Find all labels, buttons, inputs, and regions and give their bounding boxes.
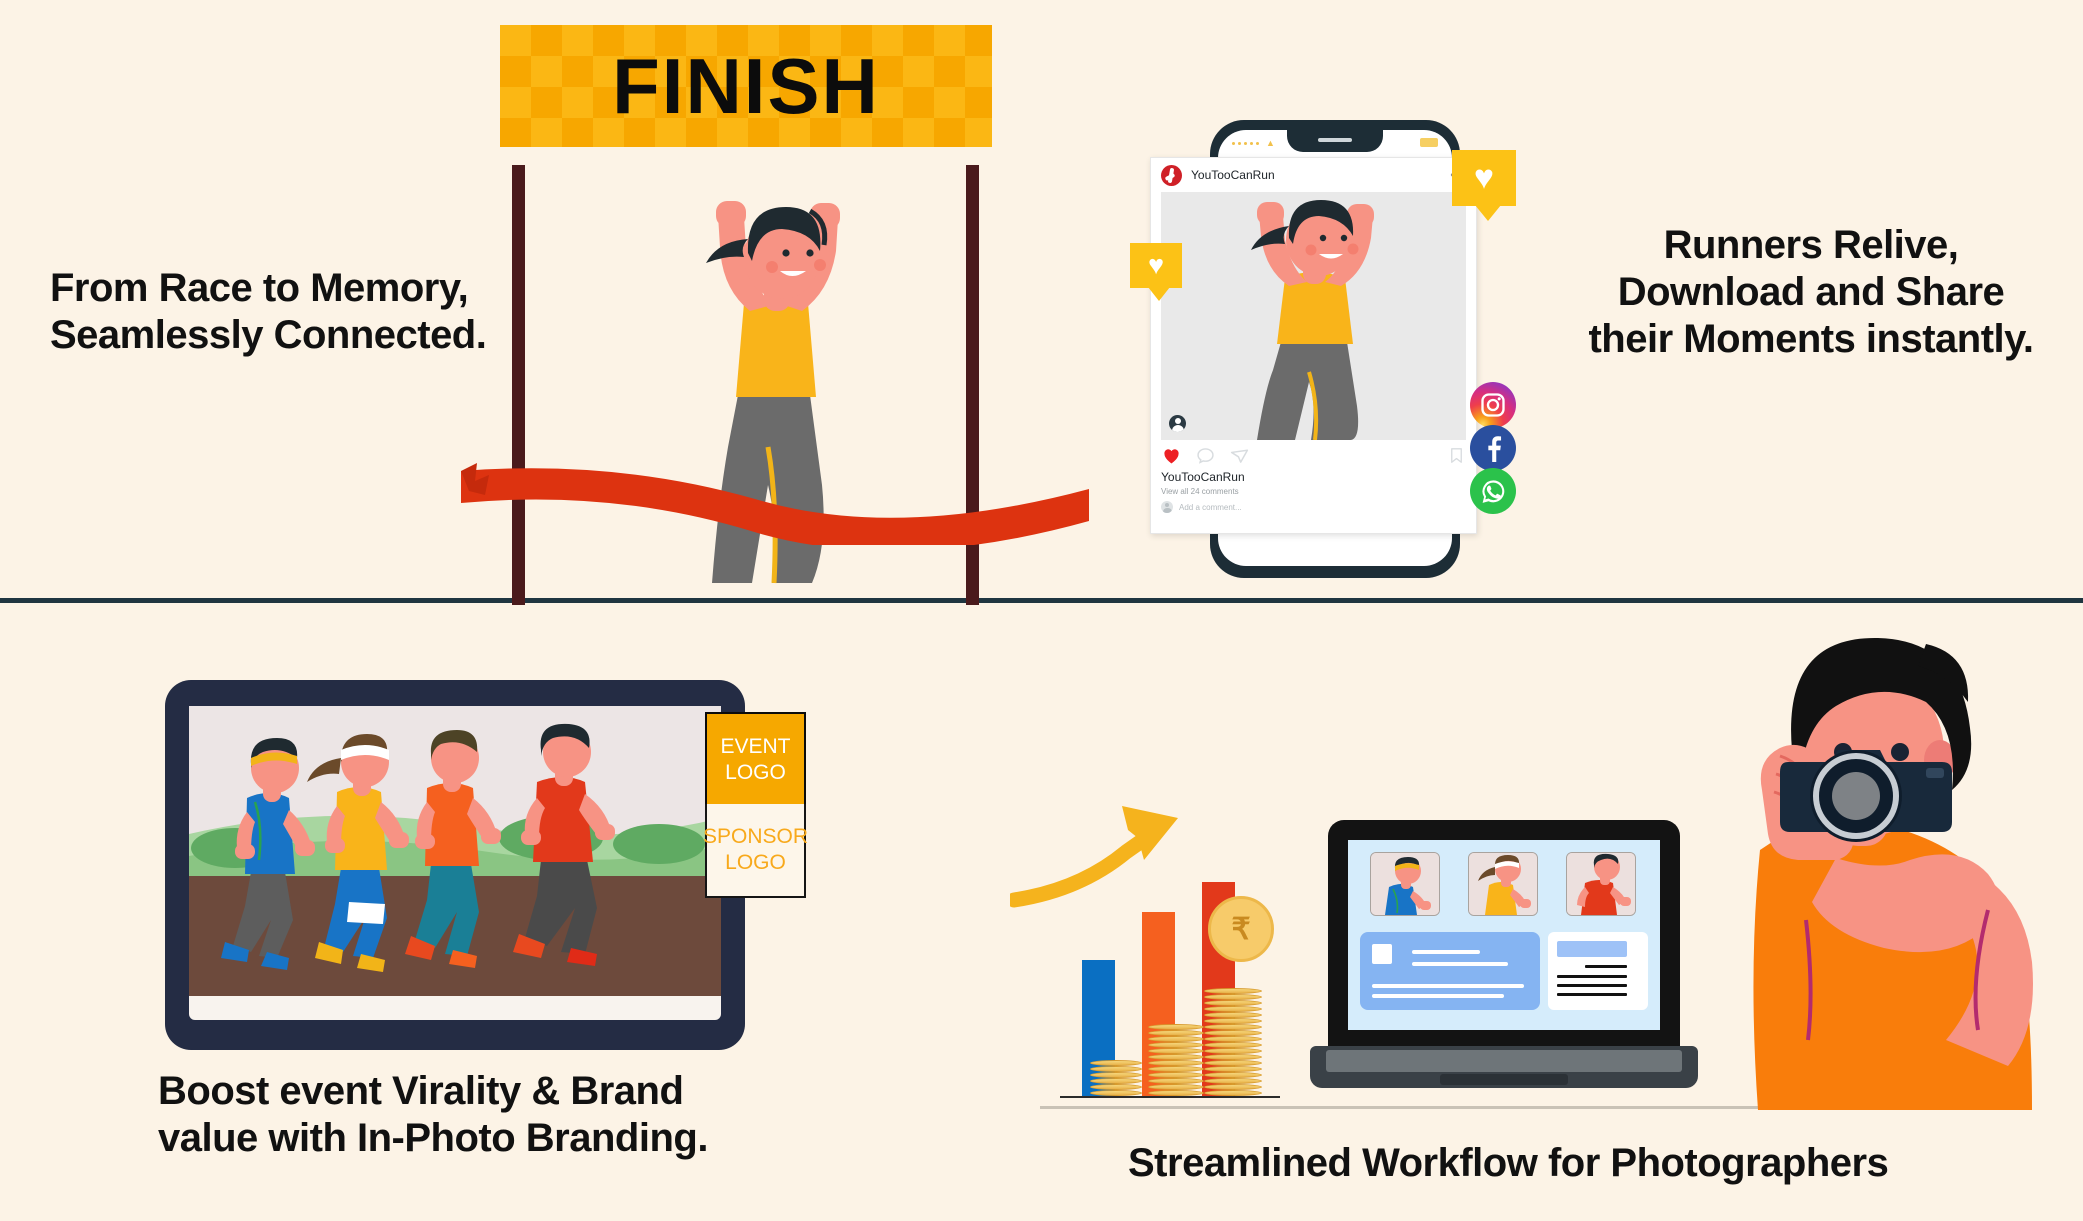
add-comment-input[interactable]: Add a comment... <box>1179 503 1242 512</box>
finish-banner: FINISH <box>500 25 992 147</box>
post-view-comments-link[interactable]: View all 24 comments <box>1161 487 1466 496</box>
panel-line <box>1372 984 1524 988</box>
whatsapp-icon[interactable] <box>1470 468 1516 514</box>
coin-stack-0 <box>1090 1056 1142 1096</box>
finish-ribbon <box>455 425 1095 545</box>
content-panel-white <box>1548 932 1648 1010</box>
panel-line <box>1412 962 1508 966</box>
headline-top-right-line3: their Moments instantly. <box>1556 316 2066 363</box>
headline-bottom-left-line2: value with In-Photo Branding. <box>158 1115 708 1162</box>
panel-line <box>1372 994 1504 998</box>
post-caption-username[interactable]: YouTooCanRun <box>1161 470 1466 484</box>
headline-top-right: Runners Relive, Download and Share their… <box>1556 222 2066 364</box>
coin-stack-2 <box>1204 980 1262 1096</box>
logo-overlay-stack: EVENT LOGO SPONSOR LOGO <box>705 712 802 902</box>
coin-stack-1 <box>1148 1020 1204 1096</box>
tagged-user-avatar-icon[interactable] <box>1169 415 1186 432</box>
laptop-touchpad[interactable] <box>1440 1074 1568 1085</box>
photo-thumbnail-2[interactable] <box>1566 852 1636 916</box>
post-photo <box>1161 192 1466 440</box>
headline-top-left-line2: Seamlessly Connected. <box>50 312 486 359</box>
tv-screen <box>189 706 721 996</box>
add-comment-row[interactable]: Add a comment... <box>1161 501 1466 513</box>
like-heart-icon[interactable] <box>1161 445 1182 466</box>
instagram-icon[interactable] <box>1470 382 1516 428</box>
laptop-lid <box>1328 820 1680 1050</box>
headline-top-right-line2: Download and Share <box>1556 269 2066 316</box>
finish-banner-label: FINISH <box>612 41 880 132</box>
revenue-bar-chart: ₹ <box>1060 830 1280 1110</box>
headline-top-left-line1: From Race to Memory, <box>50 265 486 312</box>
post-header: YouTooCanRun ••• <box>1151 158 1476 192</box>
photographer-illustration <box>1640 610 2060 1110</box>
infographic-canvas: FINISH From Race to Memory, <box>0 0 2083 1221</box>
current-user-avatar-icon <box>1161 501 1173 513</box>
runners-group-photo <box>189 706 721 996</box>
rupee-coin-icon: ₹ <box>1208 896 1274 962</box>
panel-line <box>1557 975 1627 978</box>
comment-bubble-icon[interactable] <box>1195 445 1216 466</box>
panel-line <box>1557 993 1627 996</box>
headline-bottom-left: Boost event Virality & Brand value with … <box>158 1068 708 1162</box>
phone-speaker-bar <box>1318 138 1352 142</box>
headline-bottom-right: Streamlined Workflow for Photographers <box>1128 1140 1888 1187</box>
rupee-symbol: ₹ <box>1231 912 1250 947</box>
battery-icon <box>1420 138 1438 147</box>
tv-frame <box>165 680 745 1050</box>
post-username[interactable]: YouTooCanRun <box>1191 168 1275 182</box>
tv-stand <box>189 996 721 1020</box>
brand-logo-avatar-icon[interactable] <box>1161 165 1182 186</box>
bookmark-icon[interactable] <box>1447 446 1466 465</box>
photo-thumbnail-1[interactable] <box>1468 852 1538 916</box>
panel-line <box>1557 984 1627 987</box>
celebrating-runner-photo <box>1161 192 1466 440</box>
content-panel-blue <box>1360 932 1540 1010</box>
panel-header-bar <box>1557 941 1627 957</box>
headline-top-left: From Race to Memory, Seamlessly Connecte… <box>50 265 486 359</box>
sponsor-logo-line1: SPONSOR <box>703 824 808 850</box>
sponsor-logo-line2: LOGO <box>725 850 786 876</box>
event-logo-line1: EVENT <box>720 734 790 760</box>
heart-icon: ♥ <box>1474 160 1494 194</box>
section-divider <box>0 598 2083 603</box>
heart-badge-right: ♥ <box>1452 150 1516 206</box>
headline-bottom-left-line1: Boost event Virality & Brand <box>158 1068 708 1115</box>
badge-tail <box>1148 287 1170 301</box>
event-logo-box: EVENT LOGO <box>705 712 806 808</box>
badge-tail <box>1475 205 1501 221</box>
headline-top-right-line1: Runners Relive, <box>1556 222 2066 269</box>
wifi-icon: ▲ <box>1266 139 1275 148</box>
signal-strength-icon: ▲ <box>1232 139 1275 148</box>
heart-icon: ♥ <box>1148 251 1164 278</box>
event-logo-line2: LOGO <box>725 760 786 786</box>
panel-line <box>1585 965 1627 968</box>
post-action-bar <box>1151 440 1476 470</box>
panel-thumb-square <box>1372 944 1392 964</box>
chart-baseline <box>1060 1096 1280 1098</box>
facebook-icon[interactable] <box>1470 425 1516 471</box>
sponsor-logo-box: SPONSOR LOGO <box>705 804 806 898</box>
phone-notch <box>1287 130 1383 152</box>
heart-badge-left: ♥ <box>1130 243 1182 288</box>
panel-line <box>1412 950 1480 954</box>
instagram-post-card: YouTooCanRun ••• <box>1150 157 1477 534</box>
share-paperplane-icon[interactable] <box>1229 445 1250 466</box>
post-meta: YouTooCanRun View all 24 comments Add a … <box>1151 470 1476 513</box>
laptop-screen <box>1348 840 1660 1030</box>
laptop-keyboard[interactable] <box>1326 1050 1682 1072</box>
photo-thumbnail-0[interactable] <box>1370 852 1440 916</box>
